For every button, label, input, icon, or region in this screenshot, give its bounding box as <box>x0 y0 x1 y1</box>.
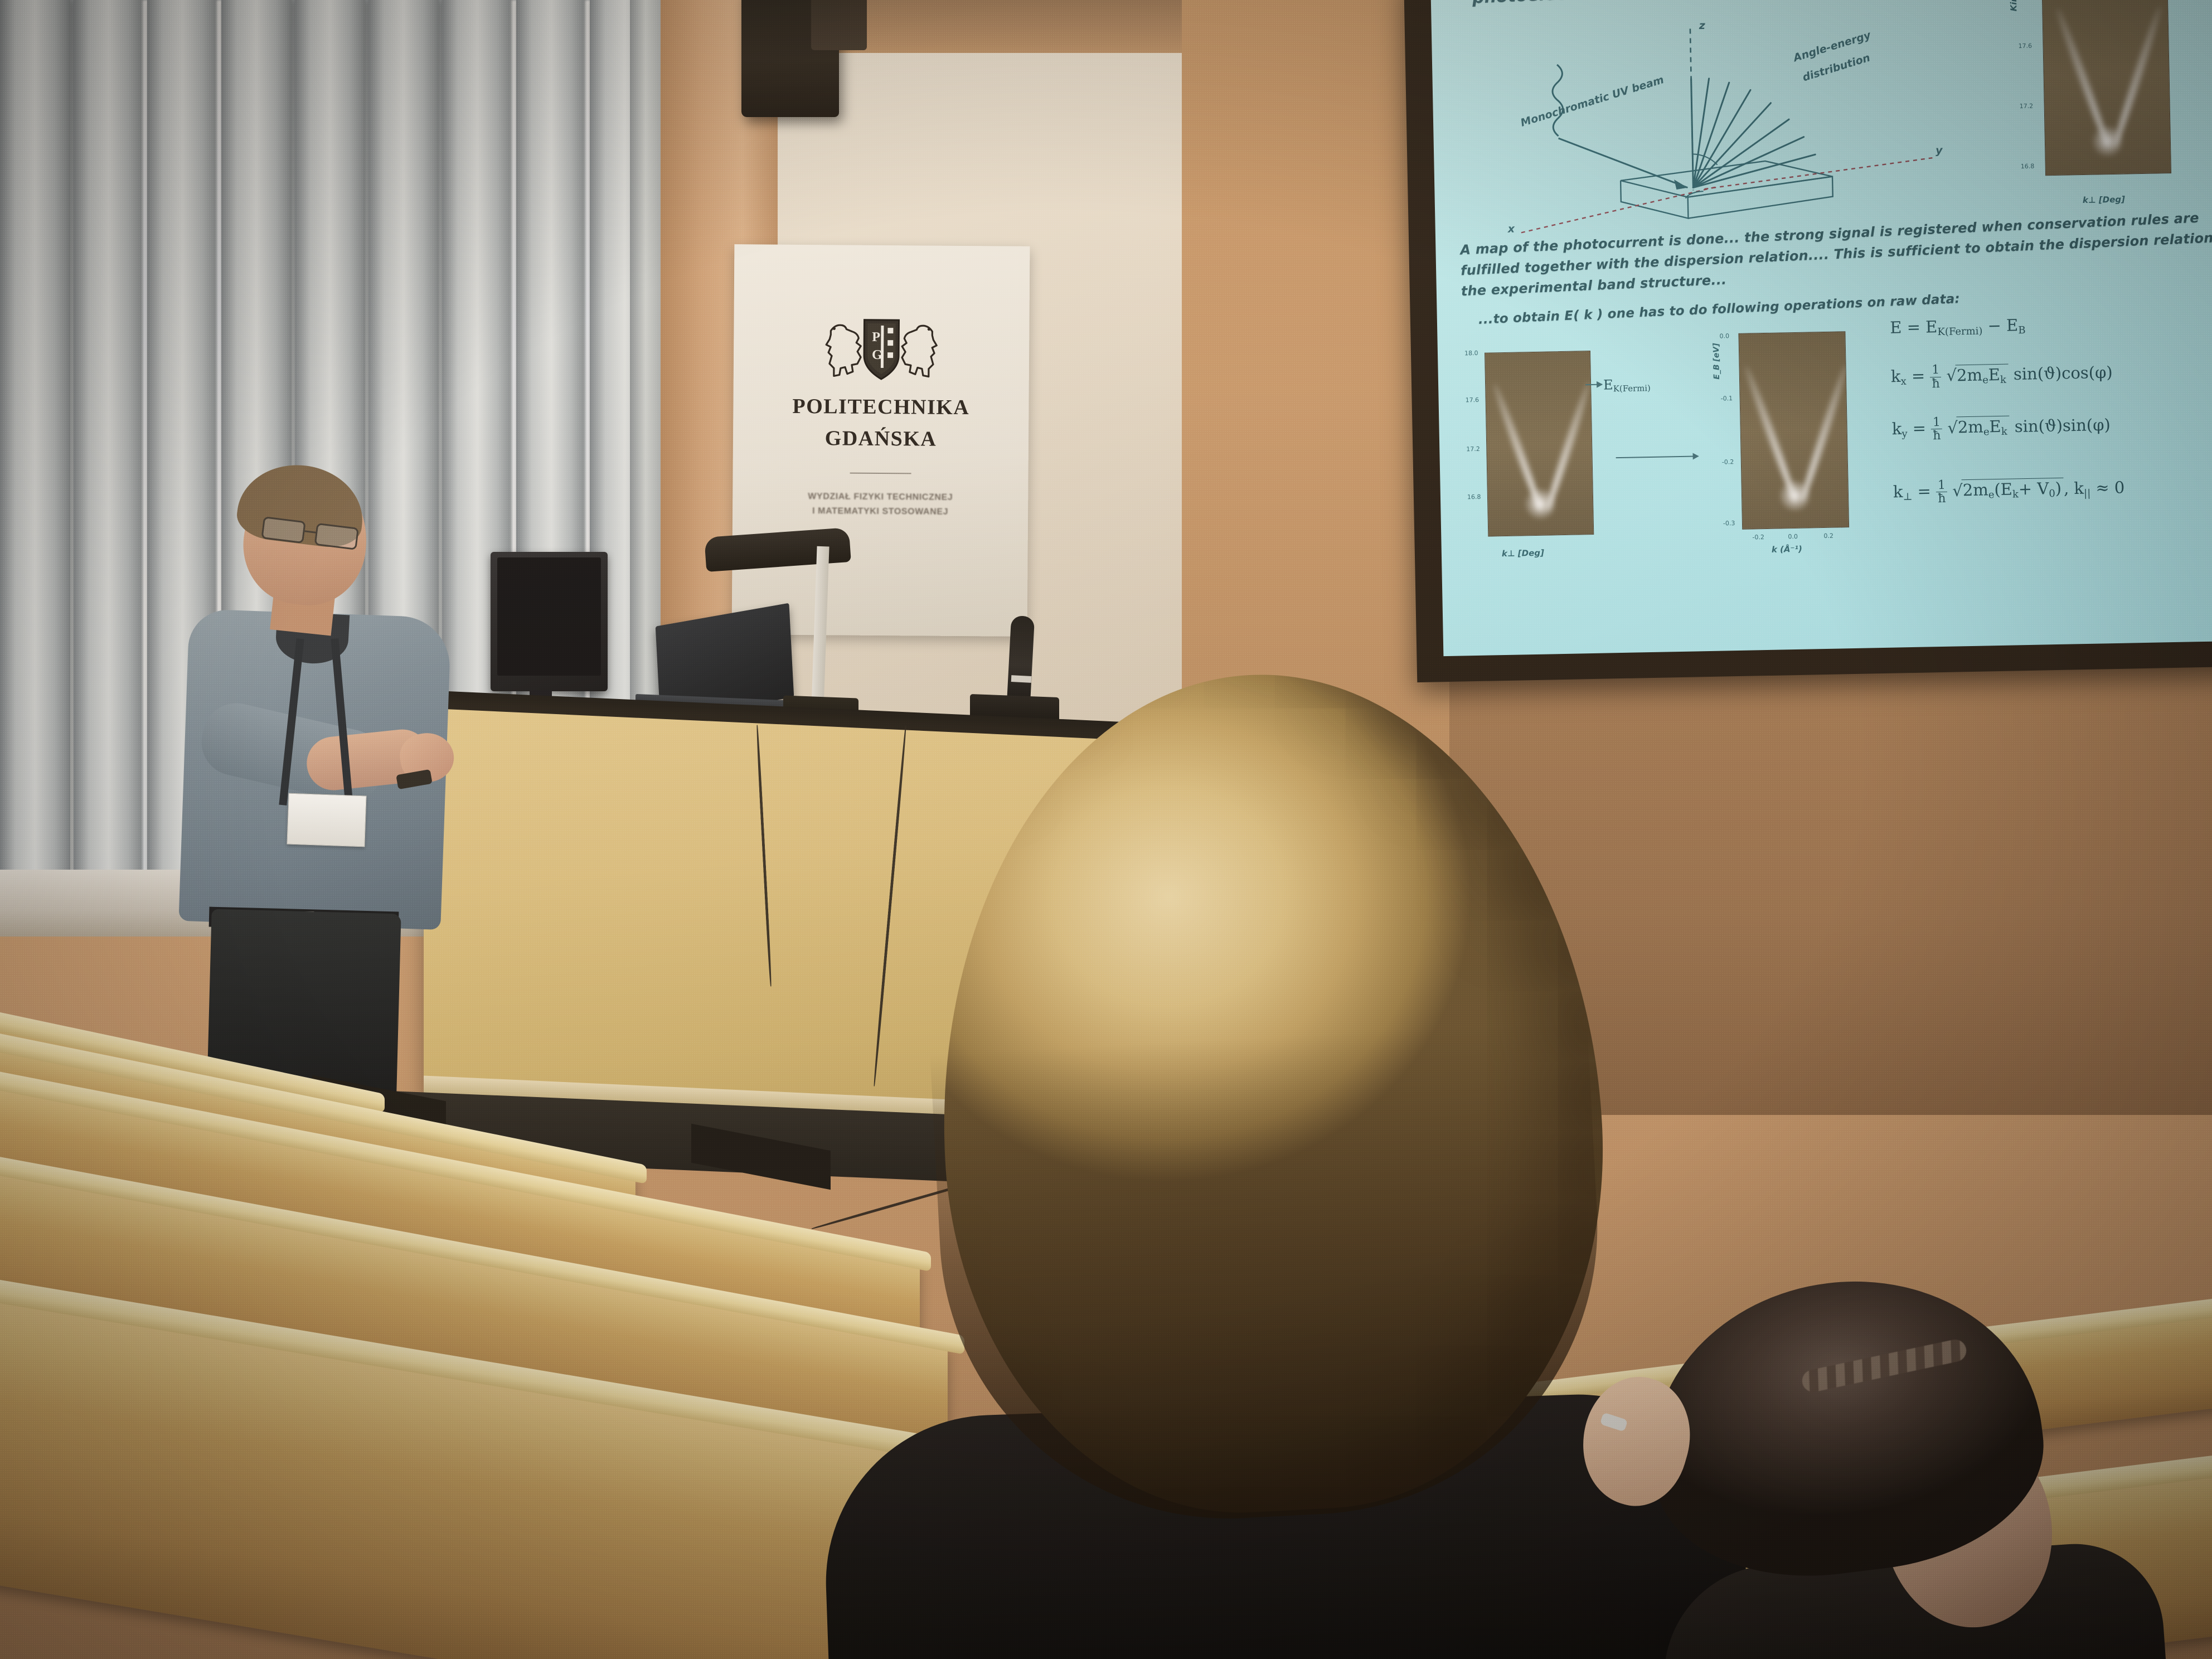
axis-label-y-bottom-right: E_B [eV] <box>1712 343 1721 380</box>
ytick-bl-3: 16.8 <box>1467 493 1481 501</box>
eq2-E: E <box>1988 365 2000 384</box>
presenter <box>178 471 468 1101</box>
crest-svg: P G <box>817 312 946 388</box>
cone-apex-glow-left <box>1524 487 1558 521</box>
label-axis-z: z <box>1699 20 1705 32</box>
blind-slat[interactable] <box>0 0 70 898</box>
eq3-k-sub: y <box>1901 428 1908 439</box>
xtick-br-1: 0.0 <box>1788 533 1798 540</box>
eq3-E: E <box>1989 417 2001 436</box>
eq1-Ek-sub: K(Fermi) <box>1937 326 1982 338</box>
eq2-k: k <box>1891 367 1901 386</box>
fermi-pointer-arrow <box>1585 384 1602 386</box>
ytick-br-0: 0.0 <box>1719 333 1729 340</box>
logo-wrap: P G POLITECHNIKA GDAŃSKA WYDZIAŁ FIZYKI … <box>733 311 1030 520</box>
ytick-bl-0: 18.0 <box>1464 350 1478 357</box>
svg-text:P: P <box>872 330 880 345</box>
equation-kx: kx = 1 ħ √2meEk sin(ϑ)cos(φ) <box>1891 358 2204 391</box>
university-name-line-1: POLITECHNIKA <box>733 394 1029 420</box>
annot-E: E <box>1603 377 1613 393</box>
eq1-equals: = <box>1907 318 1920 337</box>
glasses-lens-right <box>314 523 359 550</box>
ytick-top-2: 17.2 <box>2020 103 2034 110</box>
equation-ky: ky = 1 ħ √2meEk sin(ϑ)sin(φ) <box>1891 411 2204 443</box>
ytick-top-1: 17.6 <box>2018 42 2032 50</box>
ytick-bl-2: 17.2 <box>1466 445 1480 453</box>
eq2-phi: φ <box>2095 363 2107 382</box>
microphone-band <box>1011 675 1032 683</box>
eq4-k-sub: ⊥ <box>1903 491 1912 502</box>
eq2-E-sub: k <box>2000 374 2006 386</box>
eq4-den: ħ <box>1936 492 1947 505</box>
eq4-V-sub: 0 <box>2049 488 2055 499</box>
microphone-icon[interactable] <box>1007 615 1035 706</box>
eq4-kpar-sub: || <box>2084 487 2091 499</box>
transform-arrow <box>1616 456 1699 459</box>
eq2-radicand: 2meEk <box>1956 364 2009 387</box>
slide-equation-block: E = EK(Fermi) − EB kx = 1 ħ √2meEk <box>1890 312 2205 506</box>
slide-surface: photoelectrons emitted) <box>1430 0 2212 656</box>
eq2-den: ħ <box>1930 377 1941 390</box>
eq4-Ek-sub: k <box>2012 489 2019 501</box>
projection-screen: photoelectrons emitted) <box>1404 0 2212 682</box>
logo-divider <box>850 473 911 474</box>
axis-label-y-top-right: Kinetic Energy [eV] <box>2007 0 2019 11</box>
eq4-2m-sub: e <box>1988 489 1995 501</box>
faculty-name-line-2: I MATEMATYKI STOSOWANEJ <box>733 504 1028 520</box>
eq2-theta: ϑ <box>2044 364 2055 383</box>
eq3-sin1: sin( <box>2014 416 2045 436</box>
arpes-plot-top-right <box>2041 0 2171 176</box>
university-logo-board: P G POLITECHNIKA GDAŃSKA WYDZIAŁ FIZYKI … <box>732 244 1030 637</box>
eq3-E-sub: k <box>2001 426 2007 438</box>
eq4-equals: = <box>1917 482 1931 501</box>
eq2-k-sub: x <box>1901 376 1907 387</box>
axis-label-x-bottom-right: k (Å⁻¹) <box>1772 544 1802 555</box>
speaker-mount <box>811 0 867 50</box>
equation-kperp: k⊥ = 1 ħ √2me(Ek+ V0), k|| ≈ 0 <box>1893 474 2206 506</box>
eq2-close2: ) <box>2106 363 2113 382</box>
desk-monitor[interactable] <box>491 552 608 691</box>
eq3-2me-sub: e <box>1983 426 1990 438</box>
eq3-theta: ϑ <box>2045 416 2056 435</box>
eq4-Ek: (E <box>1994 480 2012 499</box>
cone-apex-glow-right <box>1778 479 1812 513</box>
label-axis-y: y <box>1935 144 1943 157</box>
equation-binding-energy: E = EK(Fermi) − EB <box>1890 312 2203 339</box>
ytick-bl-1: 17.6 <box>1466 396 1479 404</box>
glasses-lens-left <box>261 516 305 544</box>
pg-crest-icon: P G <box>817 312 946 388</box>
ytick-top-3: 16.8 <box>2021 163 2035 170</box>
eq3-sin2: sin( <box>2063 415 2093 435</box>
eq3-close2: ) <box>2104 415 2111 434</box>
eq2-equals: = <box>1912 367 1925 386</box>
slide-diagram-zone: Monochromatic UV beam Angle-energy distr… <box>1450 0 2204 240</box>
eq3-den: ħ <box>1931 429 1942 442</box>
blind-slat[interactable] <box>74 0 144 898</box>
eq2-cos: cos( <box>2061 363 2095 383</box>
annotation-fermi-level: EK(Fermi) <box>1603 376 1651 394</box>
eq1-Eb-sub: B <box>2018 324 2026 336</box>
eq2-2me-sub: e <box>1982 374 1988 386</box>
xtick-br-2: 0.2 <box>1823 532 1833 540</box>
faculty-name-line-1: WYDZIAŁ FIZYKI TECHNICZNEJ <box>733 489 1028 505</box>
eq3-radicand: 2meEk <box>1957 416 2010 439</box>
eq3-num: 1 <box>1931 416 1942 429</box>
eq4-plusV: + V <box>2018 479 2049 499</box>
eq3-equals: = <box>1912 419 1926 438</box>
xtick-br-0: -0.2 <box>1752 533 1764 541</box>
eq4-k: k <box>1893 482 1903 501</box>
eq4-close: ) <box>2055 479 2061 498</box>
eq4-2m: 2m <box>1963 481 1989 500</box>
eq2-frac: 1 ħ <box>1930 363 1942 390</box>
axis-label-x-top-right: k⊥ [Deg] <box>2083 195 2125 205</box>
eq4-frac: 1 ħ <box>1936 479 1948 506</box>
eq3-2me: 2m <box>1958 418 1984 437</box>
eq4-approx: ≈ 0 <box>2095 478 2125 497</box>
eq1-minus: − <box>1987 316 2001 335</box>
annot-E-sub: K(Fermi) <box>1613 384 1651 394</box>
eq1-Ek: E <box>1925 317 1938 336</box>
eq1-Eb: E <box>2006 316 2019 335</box>
eq1-E: E <box>1890 318 1902 337</box>
eq2-2me: 2m <box>1957 366 1983 385</box>
label-axis-x: x <box>1508 223 1515 235</box>
axis-label-x-bottom-left: k⊥ [Deg] <box>1502 548 1544 559</box>
ytick-br-3: -0.3 <box>1723 520 1735 527</box>
eq4-radicand: 2me(Ek+ V0) <box>1961 478 2064 502</box>
cone-apex-glow-top <box>2090 124 2124 158</box>
eq4-kpar: k <box>2074 478 2084 497</box>
presenter-name-badge <box>287 793 366 847</box>
arpes-plot-bottom-left <box>1485 351 1594 537</box>
university-name-line-2: GDAŃSKA <box>733 426 1029 452</box>
eq2-num: 1 <box>1930 363 1941 377</box>
eq3-k: k <box>1891 419 1901 438</box>
eq2-sin: sin( <box>2014 364 2044 384</box>
slide-panel-row: 18.0 17.6 17.2 16.8 k⊥ [Deg] EK(Fermi) E… <box>1456 317 2210 571</box>
ytick-br-1: -0.1 <box>1721 395 1733 402</box>
arpes-plot-bottom-right <box>1738 332 1849 530</box>
eq3-phi: φ <box>2093 415 2104 434</box>
monitor-screen <box>497 557 601 676</box>
ytick-br-2: -0.2 <box>1722 459 1734 466</box>
eq3-frac: 1 ħ <box>1931 416 1943 443</box>
eq4-num: 1 <box>1936 479 1947 492</box>
lecture-hall-photo: photoelectrons emitted) <box>0 0 2212 1659</box>
